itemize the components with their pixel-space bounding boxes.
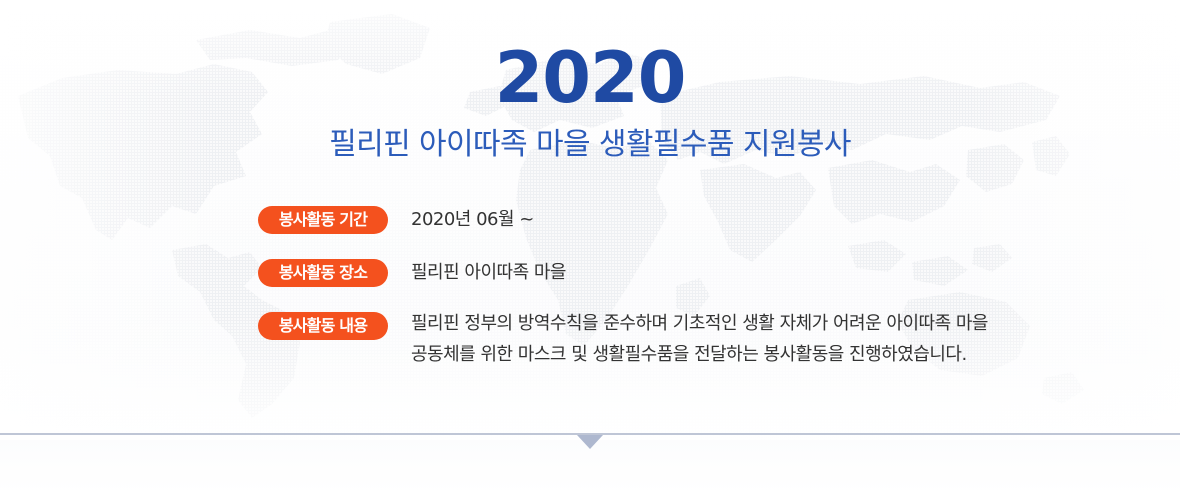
info-line: 필리핀 정부의 방역수칙을 준수하며 기초적인 생활 자체가 어려운 아이따족 … bbox=[411, 308, 1180, 339]
info-line: 필리핀 아이따족 마을 bbox=[411, 257, 1180, 288]
info-row-description: 봉사활동 내용 필리핀 정부의 방역수칙을 준수하며 기초적인 생활 자체가 어… bbox=[258, 312, 1180, 370]
year-title: 2020 bbox=[0, 0, 1180, 114]
info-value-description: 필리핀 정부의 방역수칙을 준수하며 기초적인 생활 자체가 어려운 아이따족 … bbox=[388, 308, 1180, 370]
activity-info-list: 봉사활동 기간 2020년 06월 ~ 봉사활동 장소 필리핀 아이따족 마을 … bbox=[0, 164, 1180, 370]
triangle-down-icon bbox=[577, 435, 603, 449]
info-value-period: 2020년 06월 ~ bbox=[388, 204, 1180, 235]
info-line: 2020년 06월 ~ bbox=[411, 204, 1180, 235]
badge-activity-period: 봉사활동 기간 bbox=[258, 206, 388, 234]
banner-subtitle: 필리핀 아이따족 마을 생활필수품 지원봉사 bbox=[0, 114, 1180, 164]
badge-activity-location: 봉사활동 장소 bbox=[258, 259, 388, 287]
info-line: 공동체를 위한 마스크 및 생활필수품을 전달하는 봉사활동을 진행하였습니다. bbox=[411, 339, 1180, 370]
info-row-period: 봉사활동 기간 2020년 06월 ~ bbox=[258, 206, 1180, 235]
info-row-location: 봉사활동 장소 필리핀 아이따족 마을 bbox=[258, 259, 1180, 288]
badge-activity-description: 봉사활동 내용 bbox=[258, 312, 388, 340]
volunteer-activity-banner: 2020 필리핀 아이따족 마을 생활필수품 지원봉사 봉사활동 기간 2020… bbox=[0, 0, 1180, 495]
banner-content: 2020 필리핀 아이따족 마을 생활필수품 지원봉사 봉사활동 기간 2020… bbox=[0, 0, 1180, 370]
info-value-location: 필리핀 아이따족 마을 bbox=[388, 257, 1180, 288]
